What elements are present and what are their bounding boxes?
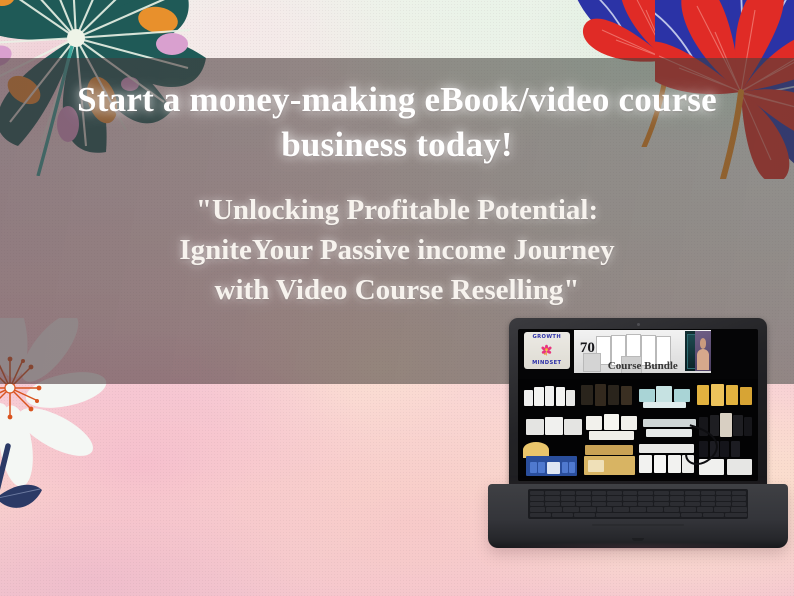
laptop-mockup: GROWTH (488, 318, 788, 558)
badge-flower-icon (540, 344, 553, 357)
bundle-count: 70 (580, 340, 595, 357)
webcam-icon (637, 323, 640, 326)
cable-illustration (518, 379, 758, 481)
course-bundle-banner: 70 Course Bundle (574, 330, 711, 373)
screen-top-row: GROWTH (518, 329, 758, 378)
laptop-screen: GROWTH (518, 329, 758, 481)
poster-copy-block: Start a money-making eBook/video course … (0, 78, 794, 310)
badge-line-2: MINDSET (532, 361, 561, 366)
laptop-base (488, 484, 788, 548)
poster-canvas: Start a money-making eBook/video course … (0, 0, 794, 596)
lid-notch (632, 538, 644, 541)
person-illustration (695, 331, 711, 370)
poster-subheadline: "Unlocking Profitable Potential: IgniteY… (150, 190, 644, 311)
product-mockup-collage (518, 379, 758, 481)
page-title: Start a money-making eBook/video course … (60, 78, 734, 168)
keyboard[interactable] (528, 489, 748, 519)
laptop-shadow (494, 542, 782, 552)
growth-mindset-badge: GROWTH (524, 332, 570, 369)
badge-line-1: GROWTH (532, 335, 561, 340)
trackpad[interactable] (592, 524, 684, 526)
laptop-lid: GROWTH (509, 318, 767, 488)
